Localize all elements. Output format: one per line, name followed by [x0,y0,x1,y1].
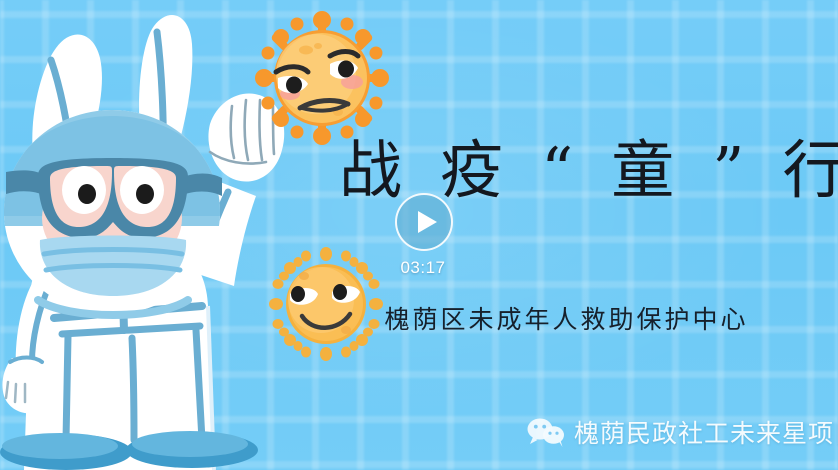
video-duration: 03:17 [330,258,516,278]
watermark: 槐荫民政社工未来星项目组 [527,414,838,450]
play-triangle-icon [418,211,437,233]
page-title: 战 疫 “ 童 ” 行 [330,138,800,204]
play-button[interactable] [395,193,453,251]
title-block: 战 疫 “ 童 ” 行 [330,138,800,204]
watermark-label: 槐荫民政社工未来星项目组 [574,414,838,450]
video-player-thumbnail[interactable]: 战 疫 “ 童 ” 行 03:17 槐荫区未成年人救助保护中心 槐荫民政社工未来… [0,0,838,470]
subtitle: 槐荫区未成年人救助保护中心 [330,300,800,336]
wechat-icon [527,417,565,447]
